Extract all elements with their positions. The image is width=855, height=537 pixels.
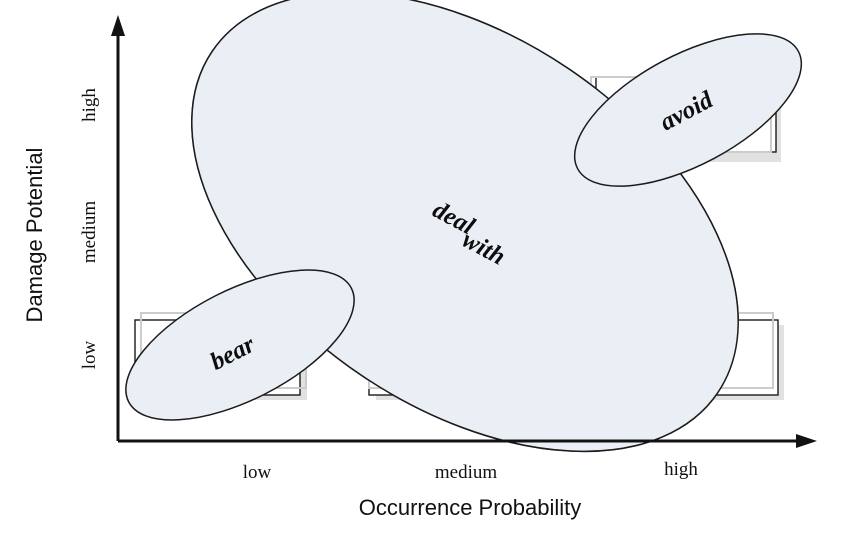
y-tick-high: high — [79, 88, 100, 122]
risk-matrix-figure: Loss of In- tegrity TCD Loss of Confi- d… — [0, 0, 855, 537]
x-tick-low: low — [243, 462, 272, 483]
x-tick-high: high — [664, 459, 698, 480]
y-tick-medium: medium — [79, 201, 100, 263]
x-tick-medium: medium — [435, 462, 497, 483]
axis-x — [118, 434, 817, 448]
axis-y — [111, 15, 125, 441]
x-axis-title: Occurrence Probability — [359, 495, 582, 520]
y-tick-low: low — [79, 340, 100, 369]
axis-y-arrow-icon — [111, 15, 125, 36]
axis-x-arrow-icon — [796, 434, 817, 448]
y-axis-title: Damage Potential — [22, 148, 47, 323]
diagram-canvas: Loss of In- tegrity TCD Loss of Confi- d… — [0, 0, 855, 537]
